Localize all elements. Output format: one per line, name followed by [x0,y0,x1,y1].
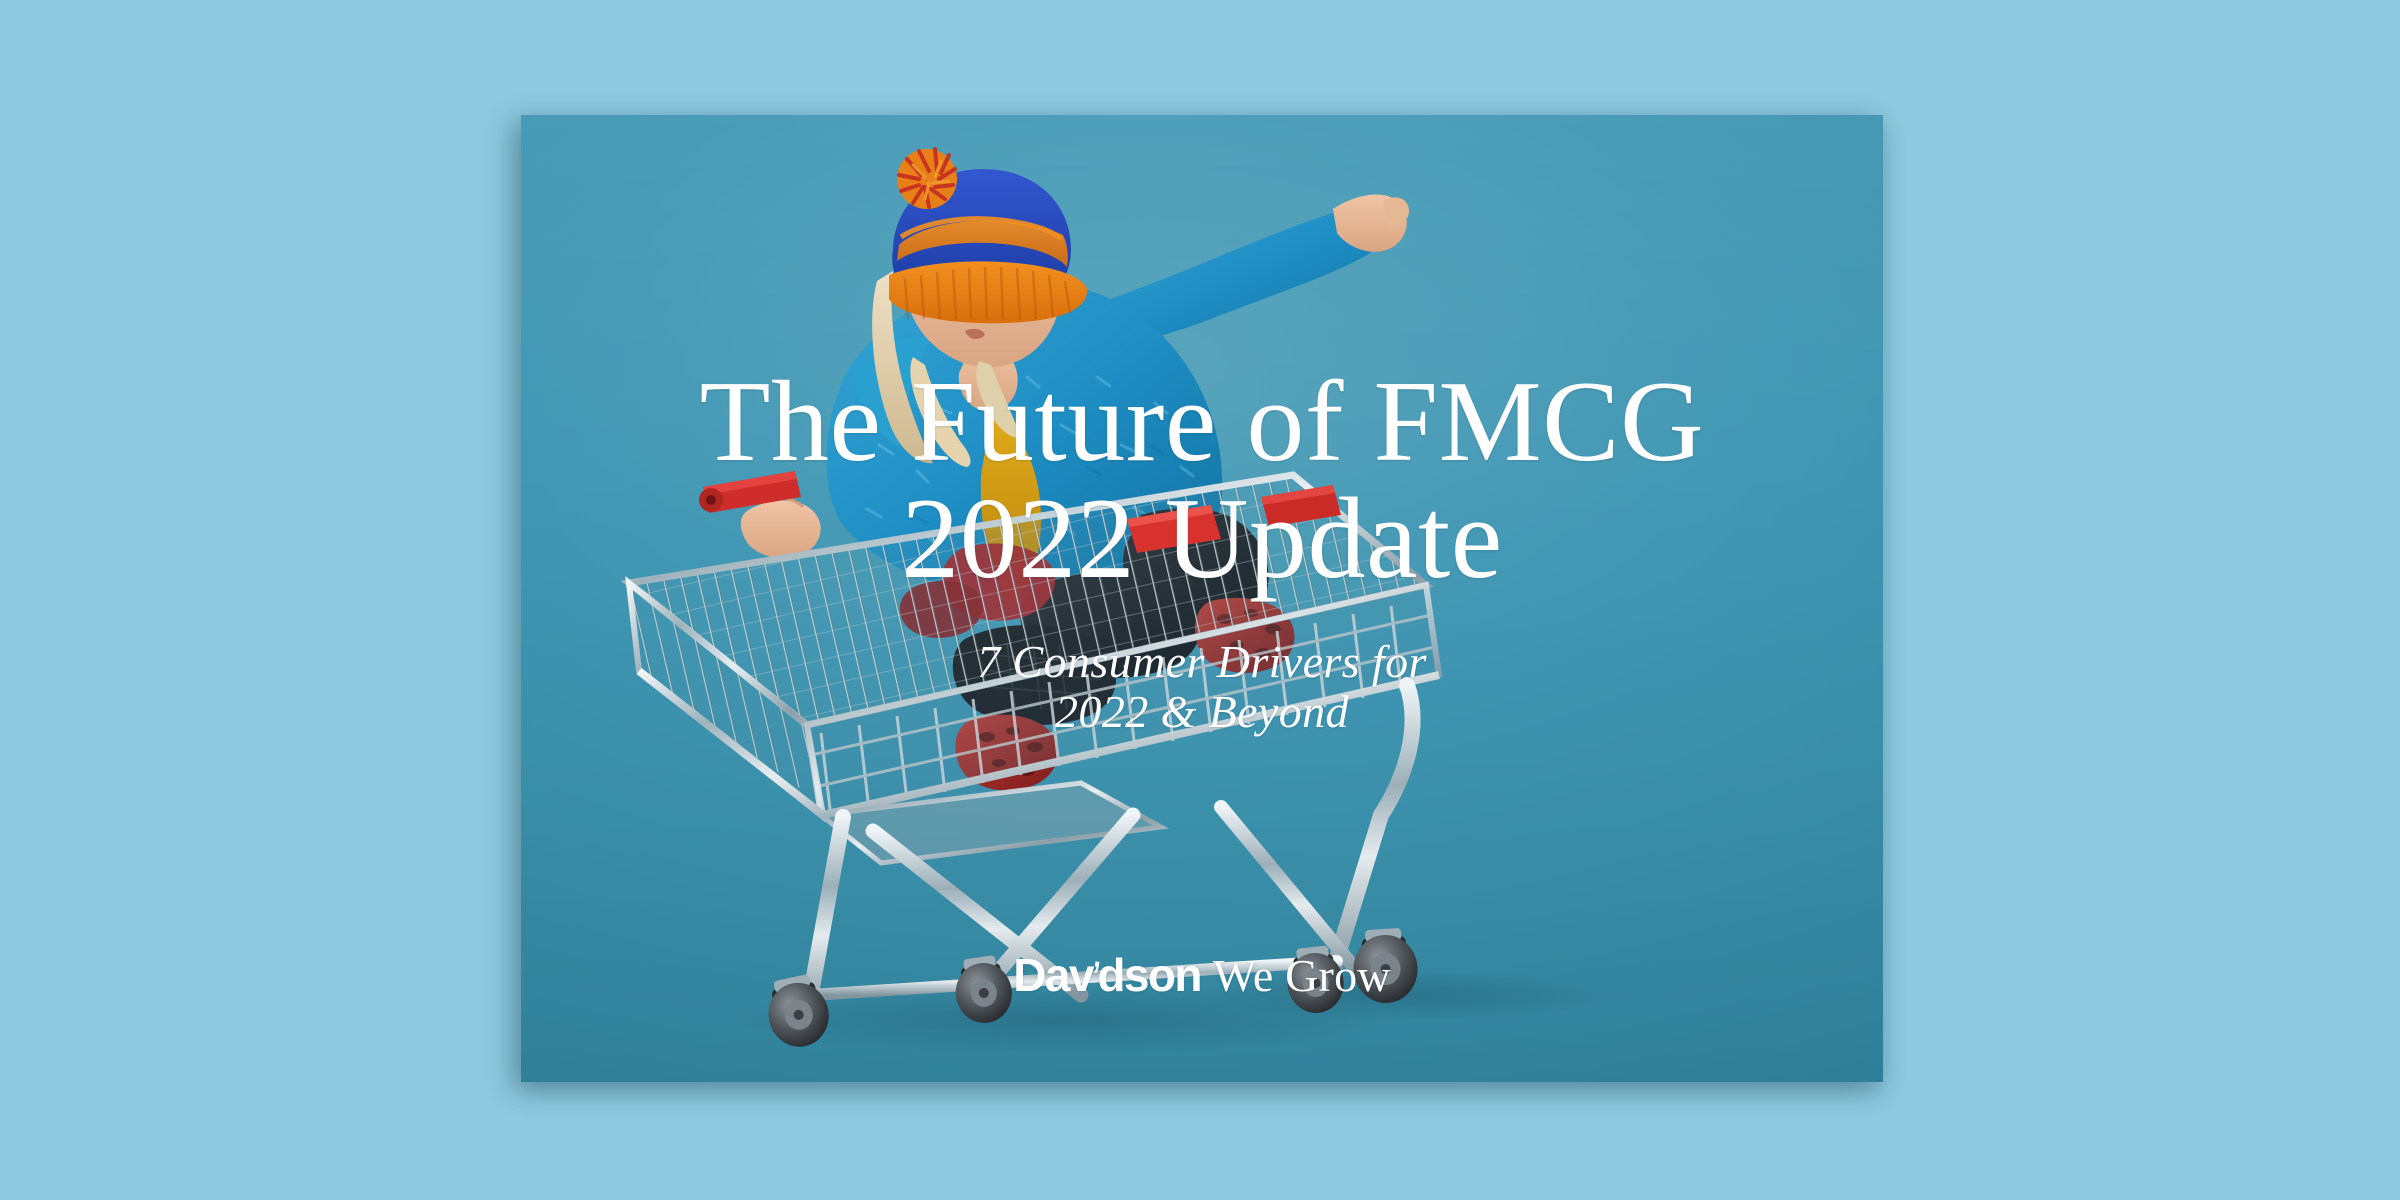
photo-subject-woman-in-shopping-cart [521,115,1883,1082]
beanie-hat [889,149,1087,323]
page-canvas: The Future of FMCG 2022 Update 7 Consume… [0,0,2400,1200]
pompom [897,149,957,209]
hand [741,501,821,559]
report-cover-card[interactable]: The Future of FMCG 2022 Update 7 Consume… [521,115,1883,1082]
